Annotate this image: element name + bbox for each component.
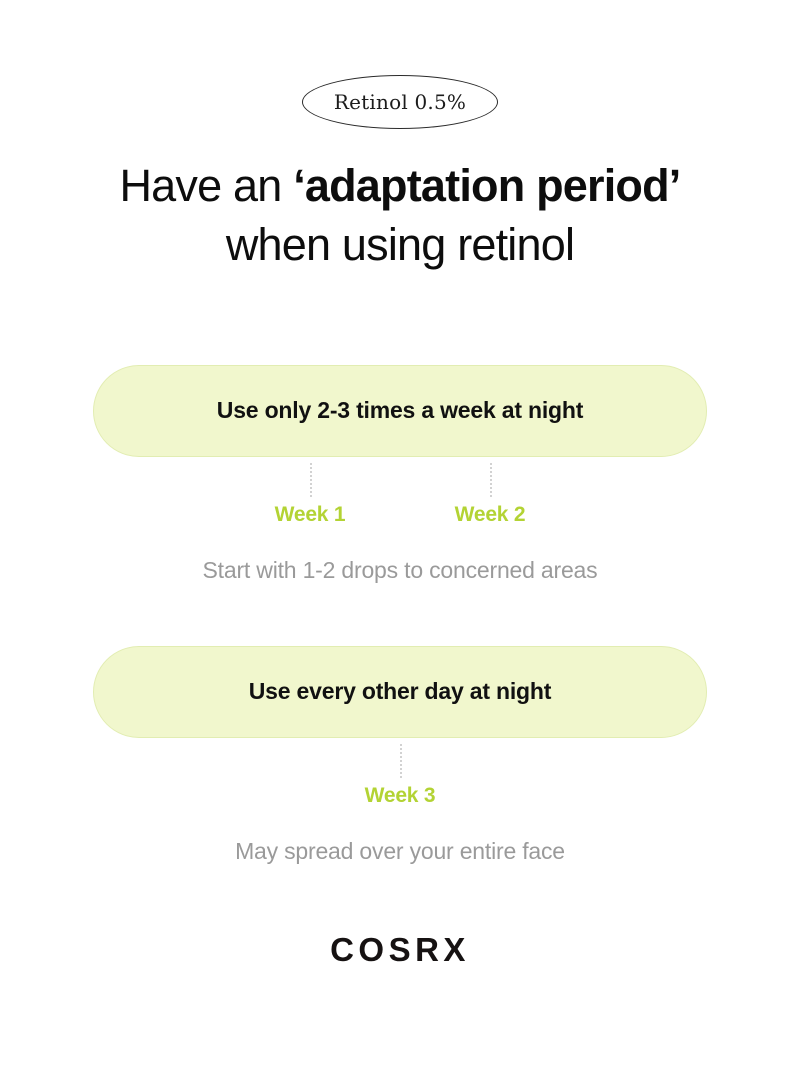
step-pill-label-1: Use only 2-3 times a week at night (217, 397, 583, 424)
page-title: Have an ‘adaptation period’ when using r… (119, 156, 680, 275)
step-pill-label-2: Use every other day at night (249, 678, 551, 705)
dotted-connector-week-3 (400, 744, 402, 778)
product-badge-label: Retinol 0.5% (334, 90, 466, 114)
week-label-group-2: Week 3 (0, 784, 800, 822)
headline-line1-emphasis: ‘adaptation period’ (293, 160, 680, 211)
dotted-connector-week-1 (310, 463, 312, 497)
headline-line2: when using retinol (119, 215, 680, 274)
brand-logo: COSRX (330, 931, 470, 969)
product-badge: Retinol 0.5% (302, 75, 498, 129)
connector-group-2 (0, 738, 800, 784)
step-pill-2: Use every other day at night (93, 646, 707, 738)
week-label-1: Week 1 (275, 503, 346, 527)
week-label-2: Week 2 (455, 503, 526, 527)
step-note-1: Start with 1-2 drops to concerned areas (203, 557, 598, 584)
dotted-connector-week-2 (490, 463, 492, 497)
badge-container: Retinol 0.5% (302, 74, 498, 130)
step-pill-1: Use only 2-3 times a week at night (93, 365, 707, 457)
headline-line1-prefix: Have an (119, 160, 293, 211)
connector-group-1 (0, 457, 800, 503)
week-label-group-1: Week 1 Week 2 (0, 503, 800, 541)
step-note-2: May spread over your entire face (235, 838, 565, 865)
week-label-3: Week 3 (365, 784, 436, 808)
infographic-page: Retinol 0.5% Have an ‘adaptation period’… (0, 0, 800, 1067)
